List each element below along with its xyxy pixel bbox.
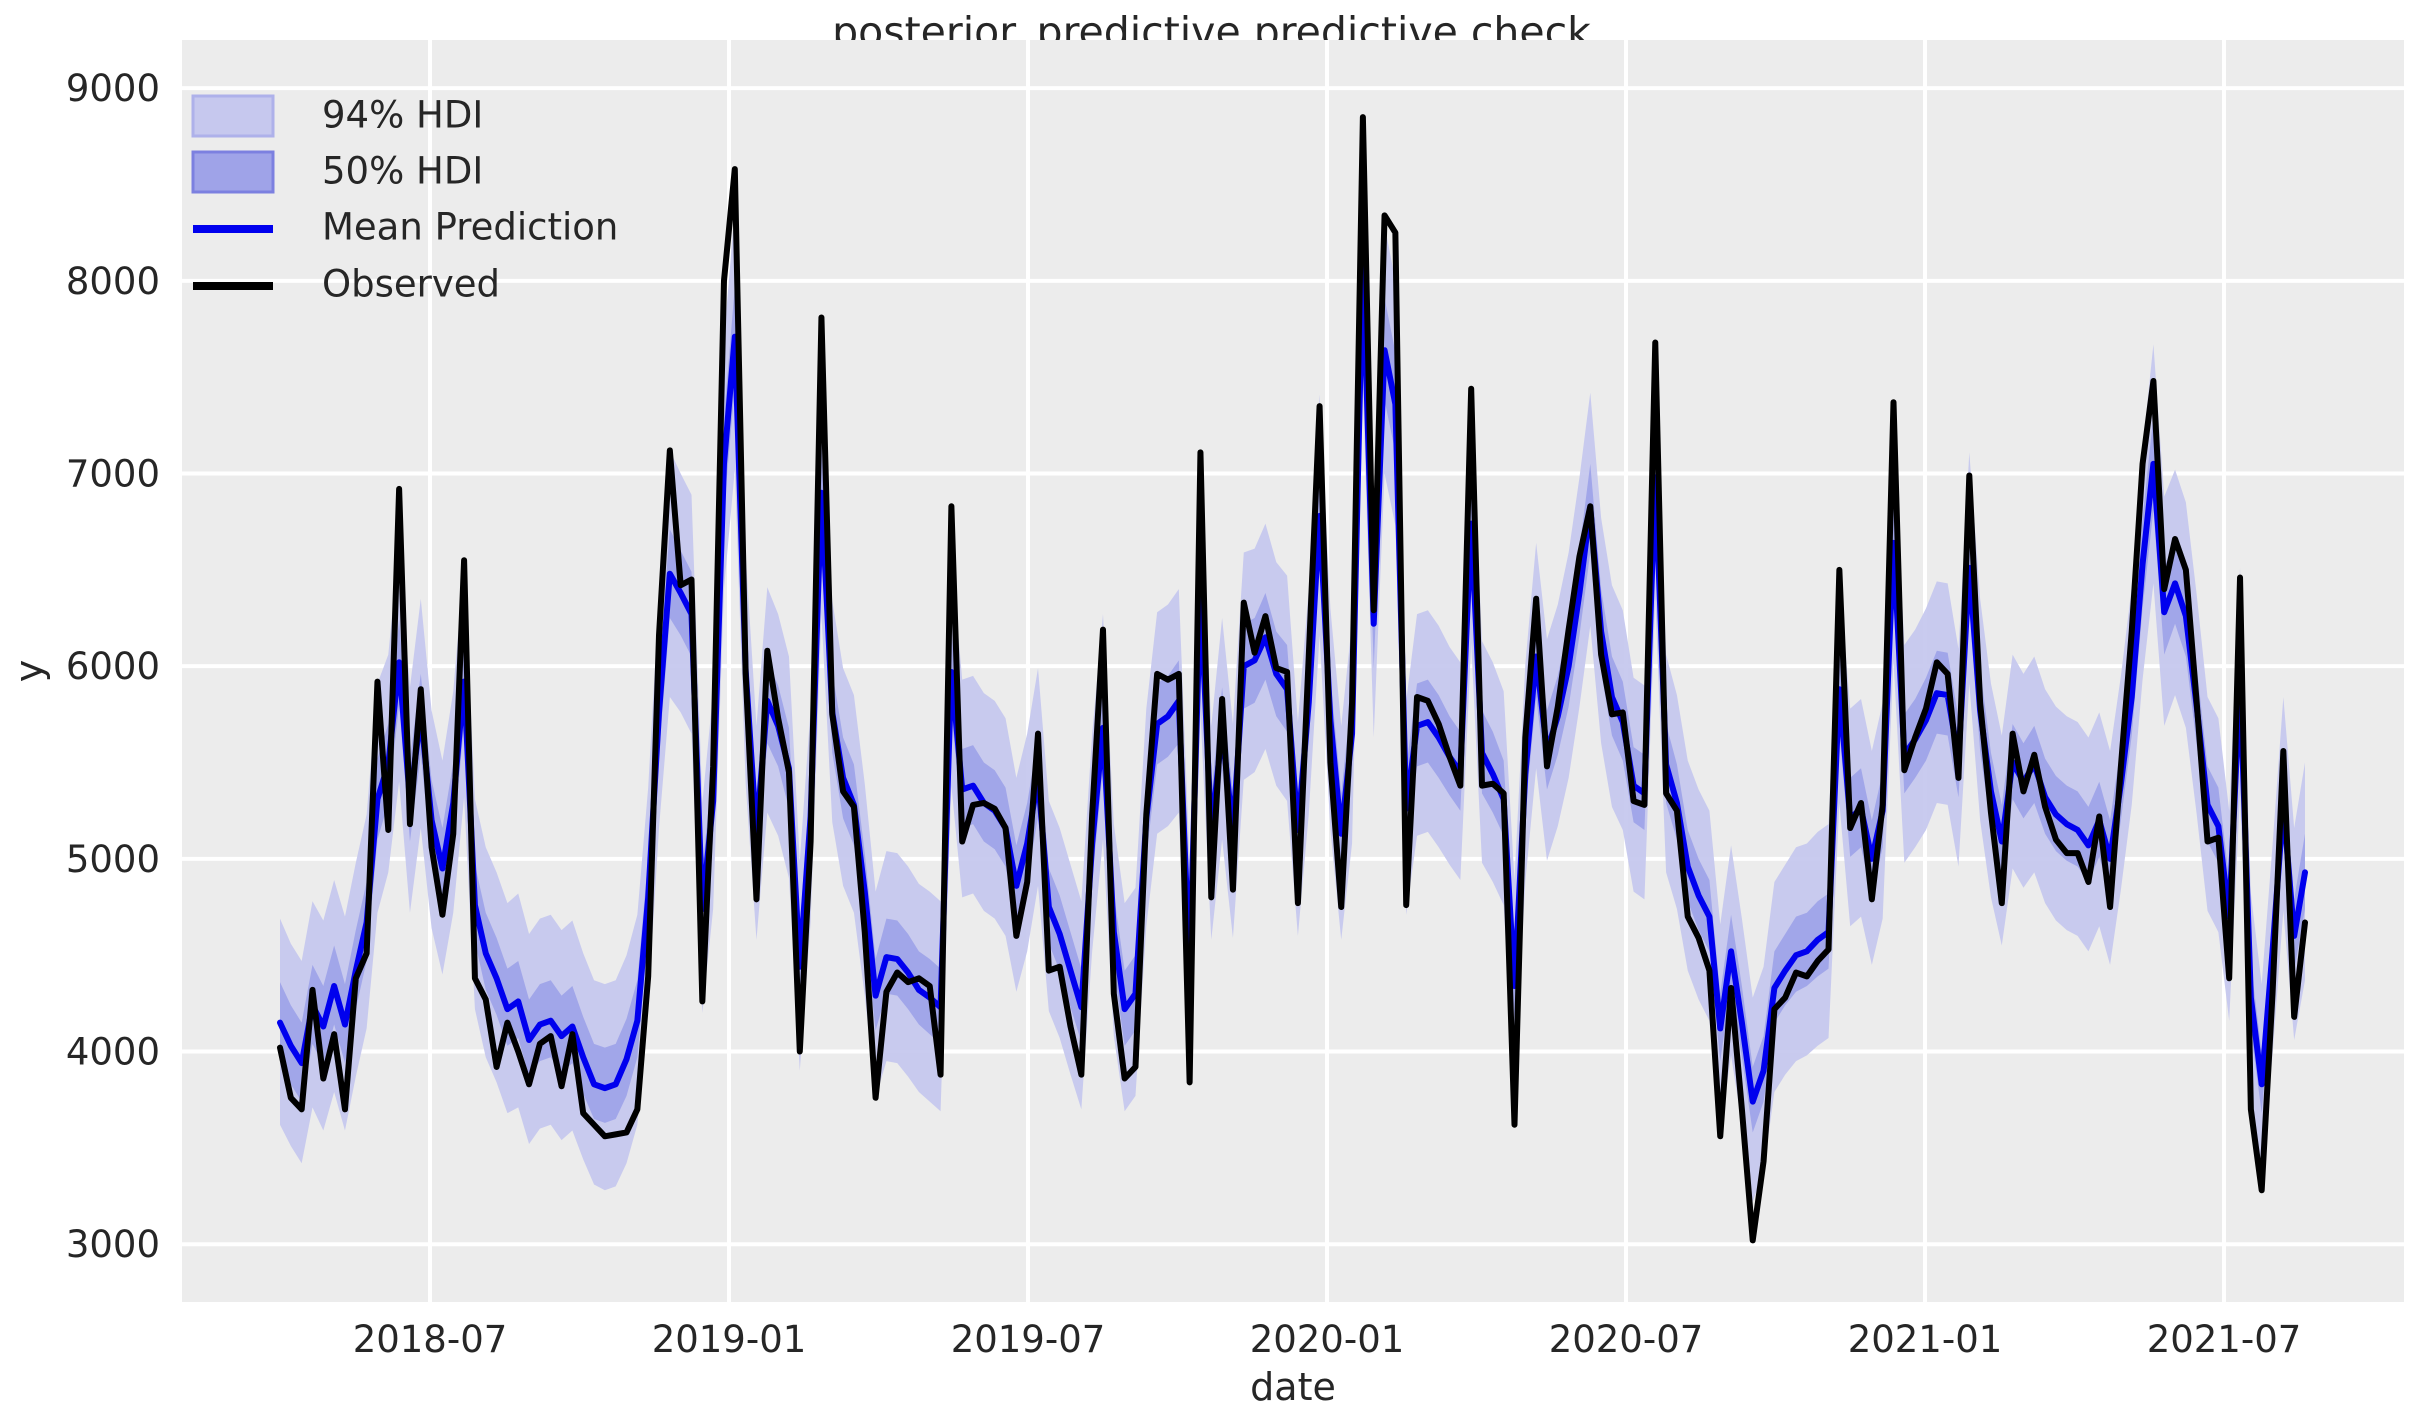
legend-label-hdi94: 94% HDI xyxy=(322,94,483,137)
legend-swatch-hdi94 xyxy=(193,96,273,136)
x-tick-label: 2021-01 xyxy=(1848,1318,2003,1361)
legend-label-hdi50: 50% HDI xyxy=(322,150,483,193)
y-axis-tick-labels: 3000400050006000700080009000 xyxy=(66,67,160,1266)
y-tick-label: 6000 xyxy=(66,645,160,688)
y-tick-label: 4000 xyxy=(66,1031,160,1074)
x-tick-label: 2019-01 xyxy=(652,1318,807,1361)
x-axis-title: date xyxy=(1250,1365,1336,1409)
posterior-predictive-plot: 3000400050006000700080009000 2018-072019… xyxy=(0,0,2423,1423)
legend-swatch-hdi50 xyxy=(193,152,273,192)
chart-figure: posterior_predictive predictive check 30… xyxy=(0,0,2423,1423)
legend-label-observed: Observed xyxy=(322,263,500,306)
x-tick-label: 2019-07 xyxy=(951,1318,1106,1361)
x-tick-label: 2021-07 xyxy=(2147,1318,2302,1361)
x-tick-label: 2020-01 xyxy=(1250,1318,1405,1361)
x-tick-label: 2018-07 xyxy=(353,1318,508,1361)
y-axis-title: y xyxy=(7,660,51,683)
y-tick-label: 8000 xyxy=(66,260,160,303)
y-tick-label: 5000 xyxy=(66,838,160,881)
y-tick-label: 9000 xyxy=(66,67,160,110)
x-tick-label: 2020-07 xyxy=(1549,1318,1704,1361)
y-tick-label: 7000 xyxy=(66,453,160,496)
x-axis-tick-labels: 2018-072019-012019-072020-012020-072021-… xyxy=(353,1318,2302,1361)
legend-label-mean-prediction: Mean Prediction xyxy=(322,206,618,249)
y-tick-label: 3000 xyxy=(66,1223,160,1266)
